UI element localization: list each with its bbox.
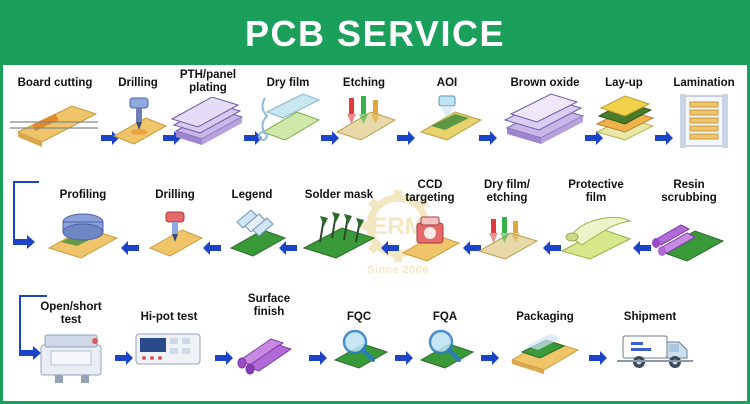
- step-pth-panel-plating: PTH/panel plating: [169, 69, 247, 154]
- step-lamination: Lamination: [661, 77, 747, 155]
- brown-oxide-stack-icon: [499, 92, 591, 153]
- step-label: Hi-pot test: [129, 311, 209, 324]
- step-aoi: AOI: [415, 77, 479, 155]
- step-label: Resin scrubbing: [647, 179, 731, 205]
- step-label: FQC: [329, 311, 389, 324]
- step-packaging: Packaging: [499, 311, 591, 379]
- step-fqc: FQC: [329, 311, 389, 379]
- plating-stack-icon: [169, 97, 247, 154]
- process-row-3: Open/short test Hi-pot test: [3, 301, 747, 404]
- magnifier-board-icon: [415, 326, 475, 379]
- legend-print-icon: [221, 204, 283, 267]
- step-protective-film: Protective film: [555, 179, 637, 268]
- step-label: Board cutting: [7, 77, 103, 90]
- step-brown-oxide: Brown oxide: [499, 77, 591, 153]
- step-label: Lay-up: [593, 77, 655, 90]
- step-drilling-2: Drilling: [143, 189, 207, 267]
- step-label: Profiling: [41, 189, 125, 202]
- step-profiling: Profiling: [41, 189, 125, 269]
- step-label: Dry film: [253, 77, 323, 90]
- arrow-icon: [481, 351, 499, 365]
- step-label: Protective film: [555, 179, 637, 205]
- step-label: Surface finish: [233, 293, 305, 319]
- step-fqa: FQA: [415, 311, 475, 379]
- step-label: Brown oxide: [499, 77, 591, 90]
- step-legend: Legend: [221, 189, 283, 267]
- arrow-icon: [215, 351, 233, 365]
- profiling-router-icon: [41, 204, 125, 269]
- step-hi-pot-test: Hi-pot test: [129, 311, 209, 379]
- resin-scrubbing-icon: [647, 207, 731, 270]
- process-row-1: Board cutting Drilling: [3, 71, 747, 181]
- process-row-2: Profiling Drilling: [3, 185, 747, 297]
- page-header: PCB SERVICE: [3, 3, 747, 65]
- step-label: Dry film/ etching: [469, 179, 545, 205]
- arrow-icon: [397, 131, 415, 145]
- surface-finish-icon: [233, 321, 305, 382]
- step-label: Open/short test: [33, 301, 109, 327]
- pcb-service-flow-diagram: PCB SERVICE ERM Since 2006: [0, 0, 750, 404]
- ccd-targeting-icon: [395, 207, 465, 270]
- step-label: Etching: [329, 77, 399, 90]
- lamination-press-icon: [661, 92, 747, 155]
- drill-machine-icon: [143, 204, 207, 267]
- step-label: Drilling: [107, 77, 169, 90]
- etching-spray-icon: [329, 92, 399, 155]
- dryfilm-etching-icon: [469, 207, 545, 270]
- step-drilling-1: Drilling: [107, 77, 169, 155]
- step-label: PTH/panel plating: [169, 69, 247, 95]
- copper-sheet-icon: [7, 92, 103, 155]
- arrow-icon: [203, 241, 221, 255]
- step-resin-scrubbing: Resin scrubbing: [647, 179, 731, 270]
- open-short-tester-icon: [33, 329, 109, 390]
- solder-mask-icon: [295, 204, 383, 267]
- step-label: Solder mask: [295, 189, 383, 202]
- drill-machine-icon: [107, 92, 169, 155]
- step-shipment: Shipment: [603, 311, 697, 379]
- row-connector-line: [19, 295, 47, 297]
- step-label: CCD targeting: [395, 179, 465, 205]
- hipot-tester-icon: [129, 326, 209, 379]
- magnifier-board-icon: [329, 326, 389, 379]
- step-board-cutting: Board cutting: [7, 77, 103, 155]
- dry-film-icon: [253, 92, 323, 155]
- step-label: Legend: [221, 189, 283, 202]
- layup-stack-icon: [593, 92, 655, 153]
- arrow-icon: [395, 351, 413, 365]
- step-label: Lamination: [661, 77, 747, 90]
- step-label: Packaging: [499, 311, 591, 324]
- protective-film-icon: [555, 207, 637, 268]
- step-dry-film: Dry film: [253, 77, 323, 155]
- arrow-icon: [309, 351, 327, 365]
- step-label: Shipment: [603, 311, 697, 324]
- step-label: Drilling: [143, 189, 207, 202]
- step-open-short-test: Open/short test: [33, 301, 109, 390]
- step-label: AOI: [415, 77, 479, 90]
- step-etching: Etching: [329, 77, 399, 155]
- arrow-icon: [479, 131, 497, 145]
- page-title: PCB SERVICE: [245, 13, 505, 55]
- step-dry-film-etching: Dry film/ etching: [469, 179, 545, 270]
- aoi-scanner-icon: [415, 92, 479, 155]
- step-ccd-targeting: CCD targeting: [395, 179, 465, 270]
- packaging-box-icon: [499, 326, 591, 379]
- arrow-icon: [121, 241, 139, 255]
- step-solder-mask: Solder mask: [295, 189, 383, 267]
- step-surface-finish: Surface finish: [233, 293, 305, 382]
- row-connector-line: [13, 181, 39, 183]
- step-label: FQA: [415, 311, 475, 324]
- delivery-truck-icon: [603, 326, 697, 379]
- step-lay-up: Lay-up: [593, 77, 655, 153]
